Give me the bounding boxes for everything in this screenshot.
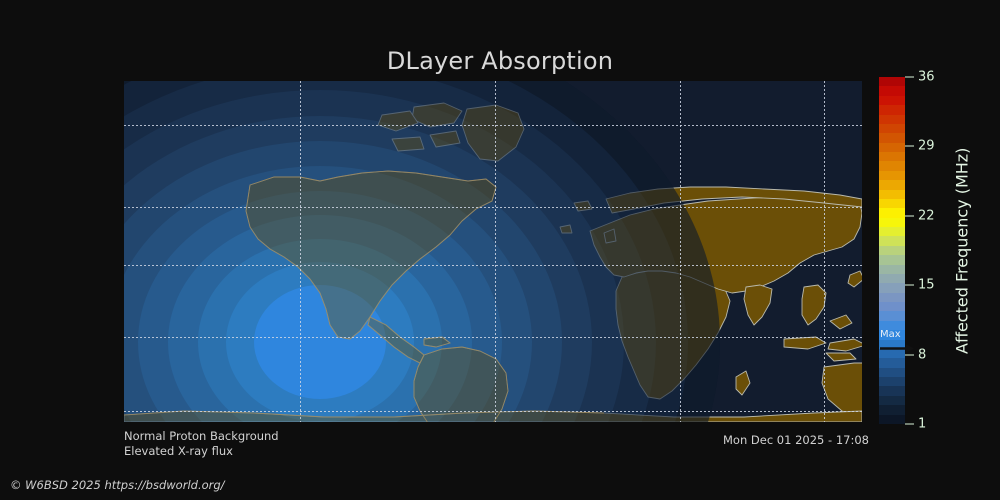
colorbar-segment bbox=[879, 293, 905, 302]
map-canvas bbox=[124, 81, 862, 422]
tick-dash-icon bbox=[905, 354, 914, 355]
gridline-lat-60n bbox=[124, 125, 862, 126]
colorbar-tick: 8 bbox=[905, 347, 926, 362]
colorbar-segment bbox=[879, 255, 905, 264]
colorbar-tick-label: 8 bbox=[918, 347, 926, 362]
colorbar-segment bbox=[879, 133, 905, 142]
colorbar-tick-label: 22 bbox=[918, 208, 935, 223]
colorbar-segment bbox=[879, 115, 905, 124]
gridline-lon-120w bbox=[300, 81, 301, 422]
tick-dash-icon bbox=[905, 77, 914, 78]
colorbar-segment bbox=[879, 321, 905, 330]
colorbar-tick: 36 bbox=[905, 70, 935, 85]
colorbar-tick-label: 36 bbox=[918, 70, 935, 85]
colorbar-segment bbox=[879, 396, 905, 405]
colorbar-segment bbox=[879, 311, 905, 320]
colorbar-segment bbox=[879, 190, 905, 199]
colorbar-segment bbox=[879, 227, 905, 236]
colorbar-segment bbox=[879, 143, 905, 152]
colorbar-segment bbox=[879, 208, 905, 217]
colorbar-segment bbox=[879, 218, 905, 227]
timestamp: Mon Dec 01 2025 - 17:08 bbox=[723, 433, 869, 447]
colorbar-segment bbox=[879, 105, 905, 114]
colorbar-segment bbox=[879, 236, 905, 245]
dlayer-absorption-page: DLayer Absorption bbox=[0, 0, 1000, 500]
colorbar-segment bbox=[879, 124, 905, 133]
copyright-notice: © W6BSD 2025 https://bsdworld.org/ bbox=[10, 478, 225, 492]
colorbar-segment bbox=[879, 152, 905, 161]
colorbar-segment bbox=[879, 96, 905, 105]
colorbar-segment bbox=[879, 77, 905, 86]
tick-dash-icon bbox=[905, 146, 914, 147]
colorbar-segment bbox=[879, 340, 905, 349]
colorbar-segment bbox=[879, 386, 905, 395]
colorbar-segment bbox=[879, 368, 905, 377]
colorbar-tick-label: 1 bbox=[918, 417, 926, 432]
tick-dash-icon bbox=[905, 215, 914, 216]
gridline-lat-0 bbox=[124, 265, 862, 266]
colorbar-tick-label: 15 bbox=[918, 278, 935, 293]
colorbar-segment bbox=[879, 274, 905, 283]
world-map[interactable] bbox=[124, 81, 862, 422]
colorbar-segment bbox=[879, 358, 905, 367]
colorbar-tick-label: 29 bbox=[918, 139, 935, 154]
colorbar-segment bbox=[879, 405, 905, 414]
colorbar-segment bbox=[879, 246, 905, 255]
colorbar-segment bbox=[879, 302, 905, 311]
colorbar-segment bbox=[879, 171, 905, 180]
colorbar-tick: 1 bbox=[905, 417, 926, 432]
gridline-lat-30s bbox=[124, 337, 862, 338]
colorbar-segment bbox=[879, 330, 905, 339]
gridline-lon-0 bbox=[680, 81, 681, 422]
page-title: DLayer Absorption bbox=[0, 47, 1000, 75]
colorbar-segment bbox=[879, 377, 905, 386]
gridline-lat-60s bbox=[124, 411, 862, 412]
status-line-xray: Elevated X-ray flux bbox=[124, 444, 279, 459]
colorbar-tick: 29 bbox=[905, 139, 935, 154]
colorbar-segment bbox=[879, 349, 905, 358]
colorbar-segment bbox=[879, 199, 905, 208]
status-annotations: Normal Proton Background Elevated X-ray … bbox=[124, 429, 279, 459]
colorbar-axis-label: Affected Frequency (MHz) bbox=[952, 77, 972, 424]
colorbar-segment bbox=[879, 415, 905, 424]
gridline-lon-60w bbox=[495, 81, 496, 422]
tick-dash-icon bbox=[905, 285, 914, 286]
colorbar[interactable] bbox=[879, 77, 905, 424]
colorbar-segment bbox=[879, 86, 905, 95]
colorbar-segment bbox=[879, 161, 905, 170]
colorbar-segment bbox=[879, 180, 905, 189]
gridline-lat-30n bbox=[124, 207, 862, 208]
colorbar-segment bbox=[879, 283, 905, 292]
colorbar-tick: 15 bbox=[905, 278, 935, 293]
status-line-proton: Normal Proton Background bbox=[124, 429, 279, 444]
tick-dash-icon bbox=[905, 424, 914, 425]
colorbar-tick: 22 bbox=[905, 208, 935, 223]
colorbar-segment bbox=[879, 265, 905, 274]
colorbar-ticks: 3629221581 bbox=[905, 77, 995, 424]
gridline-lon-60e bbox=[824, 81, 825, 422]
